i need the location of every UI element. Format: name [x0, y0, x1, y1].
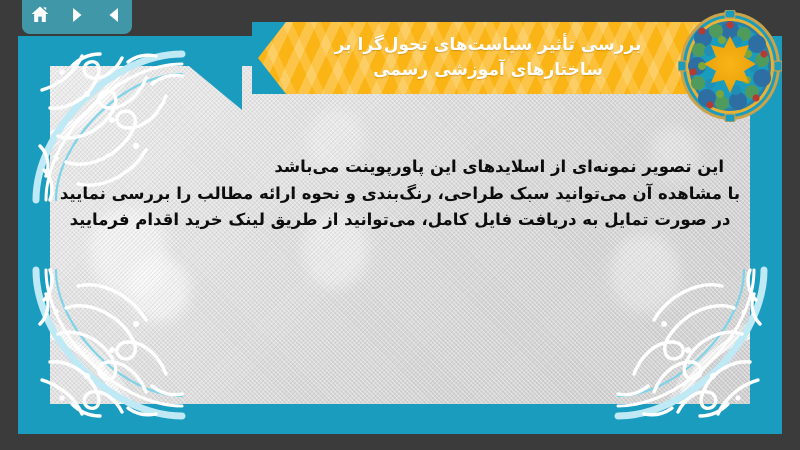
back-button[interactable]: [101, 2, 127, 28]
home-button[interactable]: [27, 2, 53, 28]
body-line: در صورت تمایل به دریافت فایل کامل، می‌تو…: [58, 207, 742, 234]
islimi-corner-ornament-icon: [32, 260, 192, 420]
body-line: این تصویر نمونه‌ای از اسلایدهای این پاور…: [58, 154, 742, 181]
islimi-corner-ornament-icon: [608, 260, 768, 420]
triangle-right-icon: [68, 6, 86, 24]
title-banner: بررسی تأثیر سیاست‌های تحول‌گرا بر ساختار…: [258, 22, 718, 94]
navigation-bar: [22, 0, 132, 34]
page-subtitle: ساختارهای آموزشی رسمی: [373, 58, 603, 83]
banner-body: بررسی تأثیر سیاست‌های تحول‌گرا بر ساختار…: [258, 22, 718, 94]
home-icon: [30, 5, 50, 25]
slide-body-text: این تصویر نمونه‌ای از اسلایدهای این پاور…: [58, 154, 742, 234]
slide: این تصویر نمونه‌ای از اسلایدهای این پاور…: [18, 36, 782, 434]
ornamental-medallion-icon: [678, 10, 782, 122]
body-line: با مشاهده آن می‌توانید سبک طراحی، رنگ‌بن…: [58, 181, 742, 208]
triangle-left-icon: [105, 6, 123, 24]
forward-button[interactable]: [64, 2, 90, 28]
page-title: بررسی تأثیر سیاست‌های تحول‌گرا بر: [335, 33, 642, 58]
